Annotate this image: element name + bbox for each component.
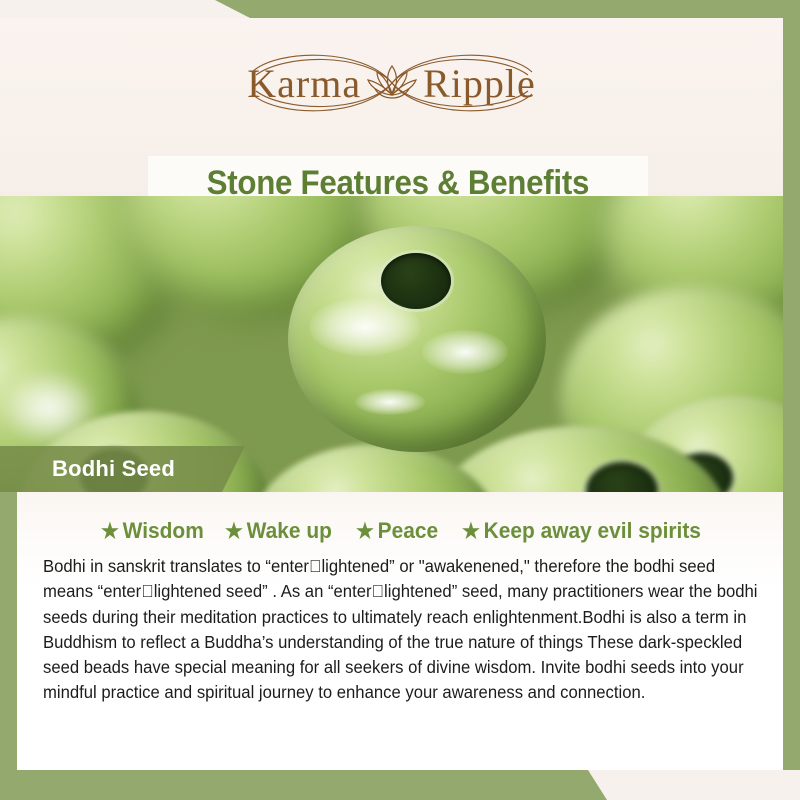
hero-label-banner: Bodhi Seed <box>0 446 245 492</box>
benefit-item-wake-up: ★ Wake up <box>225 518 332 544</box>
benefit-label: Wisdom <box>123 518 204 544</box>
hero-label-text: Bodhi Seed <box>0 456 175 482</box>
bottom-green-band <box>0 770 800 800</box>
top-green-band <box>0 0 800 18</box>
star-icon: ★ <box>101 521 119 542</box>
hero-photo: Bodhi Seed <box>0 196 783 492</box>
brand-name-left: Karma <box>247 60 361 107</box>
benefits-row: ★ Wisdom ★ Wake up ★ Peace ★ Keep away e… <box>79 518 767 544</box>
star-icon: ★ <box>356 521 374 542</box>
star-icon: ★ <box>225 521 243 542</box>
body-paragraph: Bodhi in sanskrit translates to “enter l… <box>43 554 763 706</box>
content-panel: ★ Wisdom ★ Wake up ★ Peace ★ Keep away e… <box>17 492 783 770</box>
benefit-label: Peace <box>377 518 437 544</box>
right-green-rail <box>783 18 800 770</box>
logo-mark: Karma Ripple <box>212 42 572 124</box>
benefit-label: Wake up <box>247 518 332 544</box>
star-icon: ★ <box>462 521 480 542</box>
benefit-label: Keep away evil spirits <box>484 518 701 544</box>
benefit-item-peace: ★ Peace <box>356 518 438 544</box>
header: Karma Ripple Stone Features & Benefits <box>0 18 783 196</box>
benefit-item-keep-away-evil-spirits: ★ Keep away evil spirits <box>462 518 701 544</box>
benefit-item-wisdom: ★ Wisdom <box>101 518 204 544</box>
brand-name-right: Ripple <box>423 60 536 107</box>
brand-logo: Karma Ripple <box>0 42 783 124</box>
poster-root: Karma Ripple Stone Features & Benefits <box>0 0 800 800</box>
